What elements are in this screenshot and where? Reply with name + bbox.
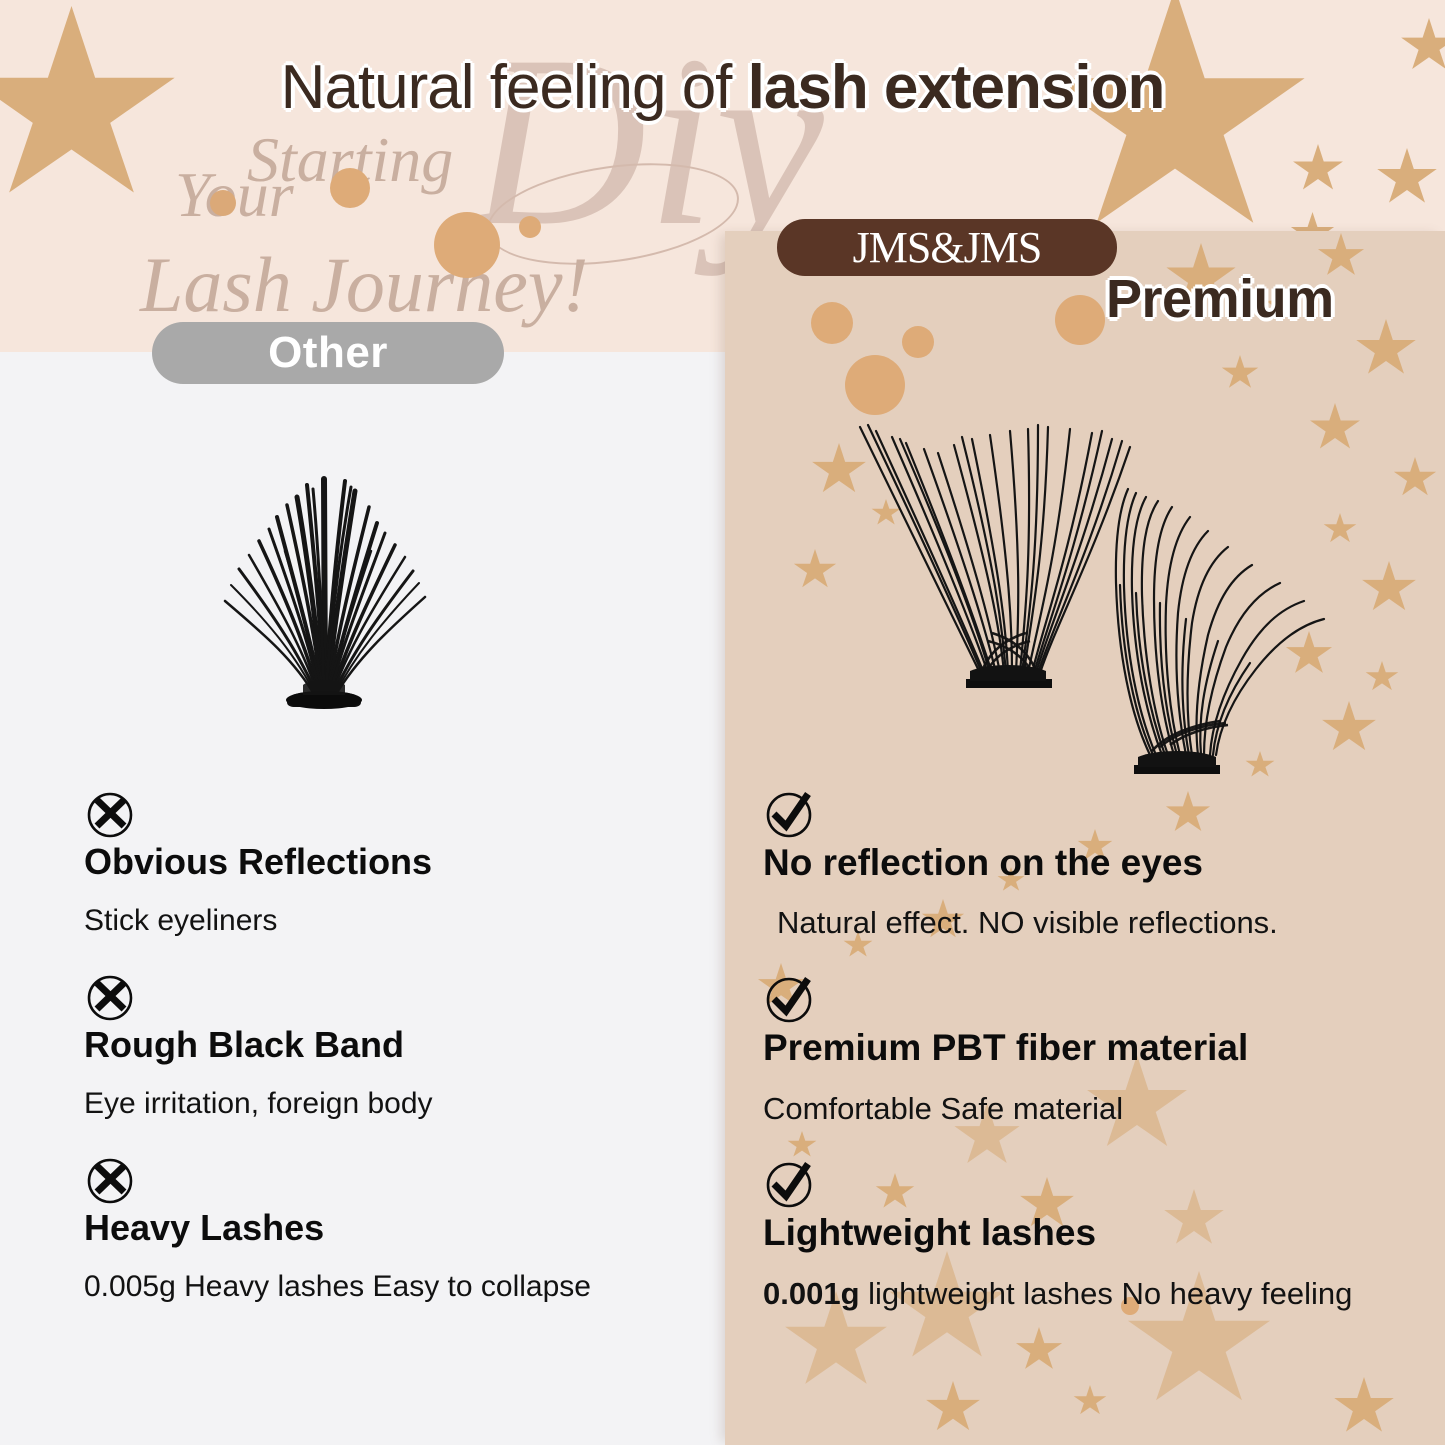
feature-desc-rest: Eye irritation, foreign body xyxy=(84,1087,433,1120)
decorative-star xyxy=(1073,1385,1107,1417)
decorative-star xyxy=(1015,1327,1063,1373)
background-script-line2: Your xyxy=(175,163,294,227)
x-mark-icon xyxy=(84,788,136,840)
other-feature-list: Obvious Reflections Stick eyeliners Roug… xyxy=(84,788,684,1304)
decorative-dot xyxy=(434,212,500,278)
other-badge: Other xyxy=(152,322,504,384)
feature-title: Rough Black Band xyxy=(84,1025,684,1065)
brand-badge-label: JMS&JMS xyxy=(853,222,1042,273)
check-mark-icon xyxy=(763,788,815,840)
feature-desc-rest: Stick eyeliners xyxy=(84,904,277,937)
feature-title: Heavy Lashes xyxy=(84,1208,684,1248)
decorative-star xyxy=(1221,355,1259,391)
decorative-star xyxy=(1361,561,1417,615)
feature-item: Obvious Reflections Stick eyeliners xyxy=(84,788,684,939)
feature-desc-rest: lightweight lashes No heavy feeling xyxy=(860,1276,1353,1311)
premium-feature-list: No reflection on the eyes Natural effect… xyxy=(763,788,1433,1311)
decorative-dot xyxy=(1055,295,1105,345)
decorative-dot xyxy=(902,326,934,358)
feature-description: Natural effect. NO visible reflections. xyxy=(763,905,1433,941)
feature-title: Obvious Reflections xyxy=(84,842,684,882)
feature-title: Lightweight lashes xyxy=(763,1212,1433,1253)
decorative-star xyxy=(1365,661,1399,693)
decorative-dot xyxy=(811,302,853,344)
premium-lash-clusters-image xyxy=(830,395,1330,795)
x-mark-icon xyxy=(84,971,136,1023)
feature-desc-bold: 0.001g xyxy=(763,1276,860,1311)
decorative-dot xyxy=(330,168,370,208)
feature-item: Premium PBT fiber material Comfortable S… xyxy=(763,973,1433,1126)
decorative-star xyxy=(925,1381,981,1435)
feature-desc-rest: Comfortable Safe material xyxy=(763,1091,1123,1126)
feature-desc-rest: 0.005g Heavy lashes Easy to collapse xyxy=(84,1270,591,1303)
feature-desc-rest: Natural effect. NO visible reflections. xyxy=(777,905,1278,940)
feature-item: No reflection on the eyes Natural effect… xyxy=(763,788,1433,941)
feature-description: 0.001g lightweight lashes No heavy feeli… xyxy=(763,1276,1433,1312)
decorative-star xyxy=(1292,144,1344,194)
decorative-star xyxy=(1333,1377,1395,1437)
feature-description: Comfortable Safe material xyxy=(763,1091,1433,1127)
check-mark-icon xyxy=(763,973,815,1025)
premium-label: Premium xyxy=(1106,268,1334,330)
feature-item: Heavy Lashes 0.005g Heavy lashes Easy to… xyxy=(84,1154,684,1305)
check-mark-icon xyxy=(763,1158,815,1210)
page-title: Natural feeling of lash extension xyxy=(0,52,1445,123)
decorative-star xyxy=(1376,148,1438,208)
feature-description: Stick eyeliners xyxy=(84,904,684,939)
decorative-star xyxy=(1040,0,1310,246)
x-mark-icon xyxy=(84,1154,136,1206)
feature-item: Rough Black Band Eye irritation, foreign… xyxy=(84,971,684,1122)
feature-title: No reflection on the eyes xyxy=(763,842,1433,883)
other-badge-label: Other xyxy=(268,328,388,378)
lash-comparison-infographic: Diy Starting Your Lash Journey! Natural … xyxy=(0,0,1445,1445)
feature-description: 0.005g Heavy lashes Easy to collapse xyxy=(84,1270,684,1305)
title-light-text: Natural feeling of xyxy=(281,53,748,122)
decorative-dot xyxy=(210,190,236,216)
brand-badge: JMS&JMS xyxy=(777,219,1117,276)
decorative-dot xyxy=(519,216,541,238)
feature-item: Lightweight lashes 0.001g lightweight la… xyxy=(763,1158,1433,1311)
feature-description: Eye irritation, foreign body xyxy=(84,1087,684,1122)
decorative-star xyxy=(1393,457,1437,499)
title-bold-text: lash extension xyxy=(748,53,1165,122)
decorative-star xyxy=(1355,319,1417,379)
background-script-line3: Lash Journey! xyxy=(140,246,588,324)
other-lash-cluster-image xyxy=(185,445,460,710)
feature-title: Premium PBT fiber material xyxy=(763,1027,1433,1068)
